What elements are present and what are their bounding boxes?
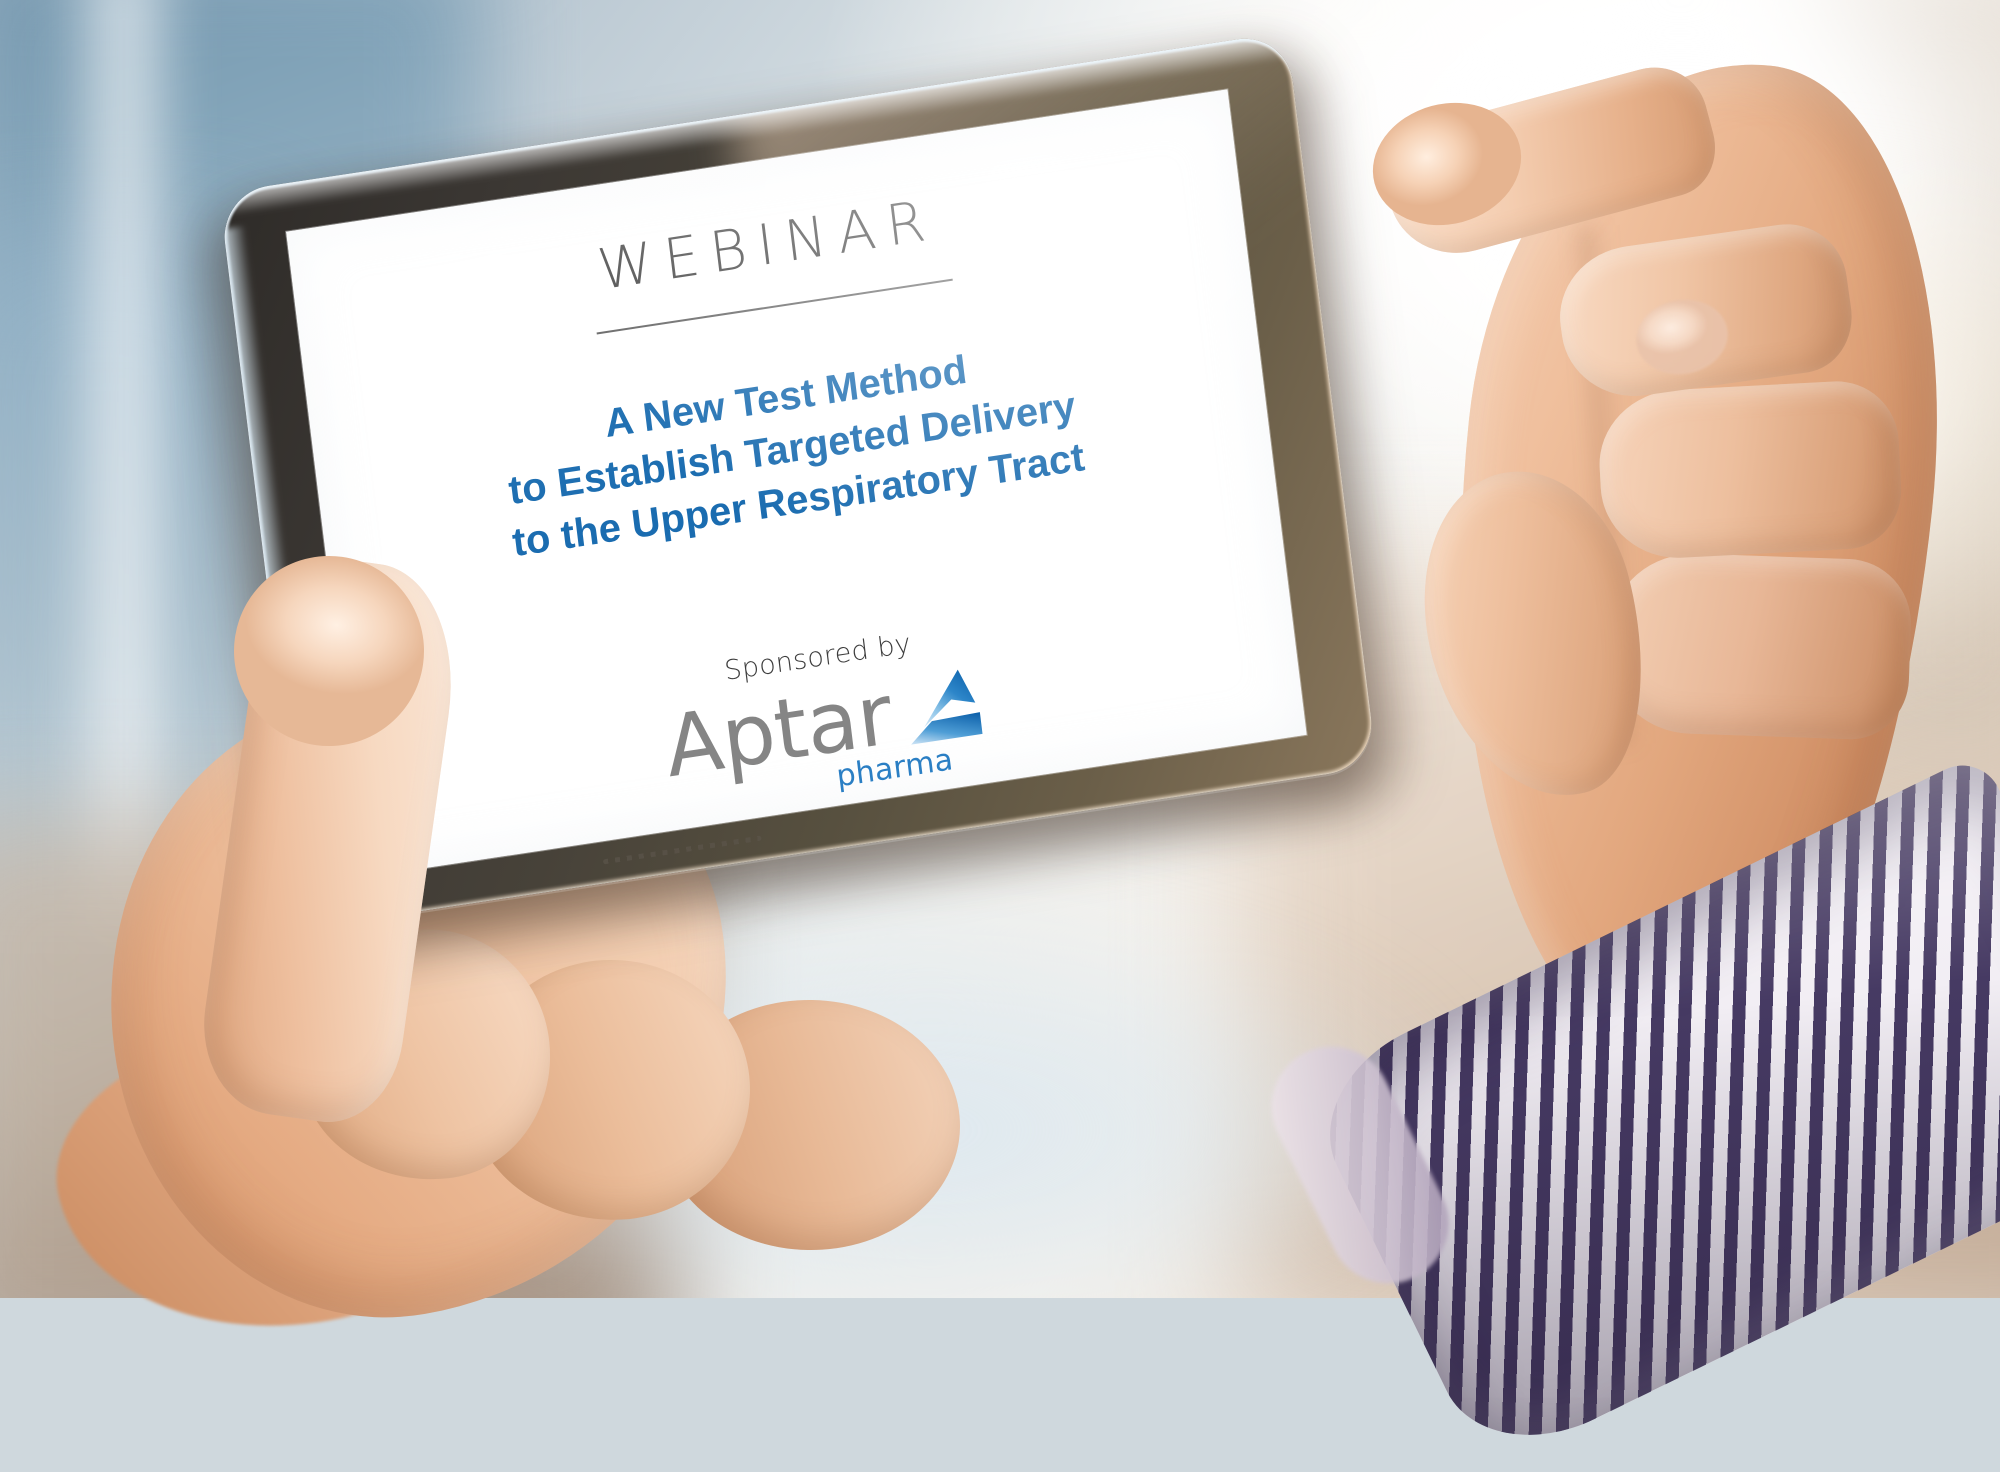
sponsor-block: Sponsored by Aptar bbox=[656, 618, 993, 804]
right-hand-finger-four bbox=[1607, 551, 1913, 741]
slide-kicker: WEBINAR bbox=[595, 193, 939, 300]
right-hand-finger-three bbox=[1596, 378, 1904, 561]
tablet-speaker-grille bbox=[603, 836, 762, 865]
slide-title: A New Test Method to Establish Targeted … bbox=[497, 328, 1088, 569]
aptar-pharma-logo: Aptar bbox=[661, 661, 991, 795]
background-window-mullion bbox=[60, 0, 180, 940]
